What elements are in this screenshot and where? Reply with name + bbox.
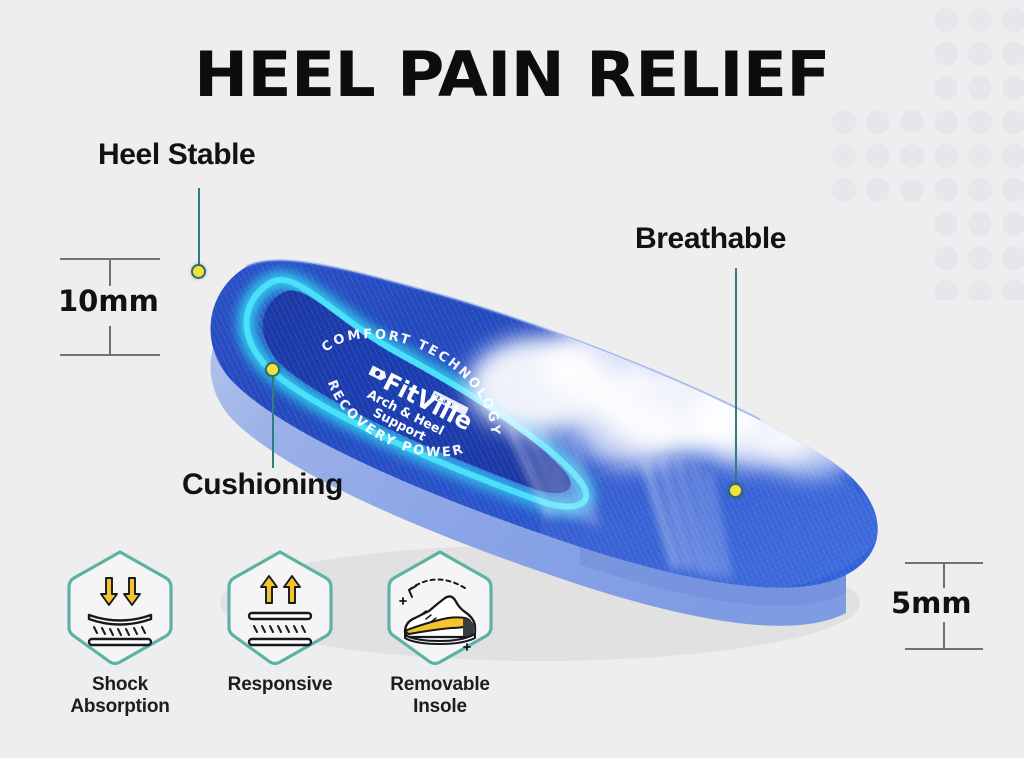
feature-removable-insole[interactable]: Removable Insole xyxy=(360,548,520,718)
removable-insole-hex xyxy=(385,548,495,666)
hotspot-dot-heel-stable[interactable] xyxy=(191,264,206,279)
callout-label-cushioning: Cushioning xyxy=(182,468,343,502)
dimension-value-5mm: 5mm xyxy=(891,586,972,620)
feature-responsive[interactable]: Responsive xyxy=(200,548,360,696)
dimension-value-10mm: 10mm xyxy=(58,284,159,318)
shock-absorption-hex xyxy=(65,548,175,666)
page-title: HEEL PAIN RELIEF xyxy=(0,38,1024,111)
hotspot-dot-breathable[interactable] xyxy=(728,483,743,498)
feature-label-responsive: Responsive xyxy=(200,674,360,696)
dimension-marker-toe-thickness: 5mm xyxy=(905,562,983,650)
feature-list: Shock Absorption xyxy=(40,548,540,738)
infographic-canvas: HEEL PAIN RELIEF xyxy=(0,0,1024,758)
dimension-marker-heel-thickness: 10mm xyxy=(60,258,160,356)
feature-shock-absorption[interactable]: Shock Absorption xyxy=(40,548,200,718)
leader-line-breathable xyxy=(735,268,737,490)
leader-line-cushioning xyxy=(272,376,274,468)
leader-line-heel-stable xyxy=(198,188,200,270)
callout-label-heel-stable: Heel Stable xyxy=(98,138,255,172)
callout-label-breathable: Breathable xyxy=(635,222,786,256)
feature-label-removable-insole: Removable Insole xyxy=(360,674,520,718)
hotspot-dot-cushioning[interactable] xyxy=(265,362,280,377)
feature-label-shock-absorption: Shock Absorption xyxy=(40,674,200,718)
responsive-hex xyxy=(225,548,335,666)
